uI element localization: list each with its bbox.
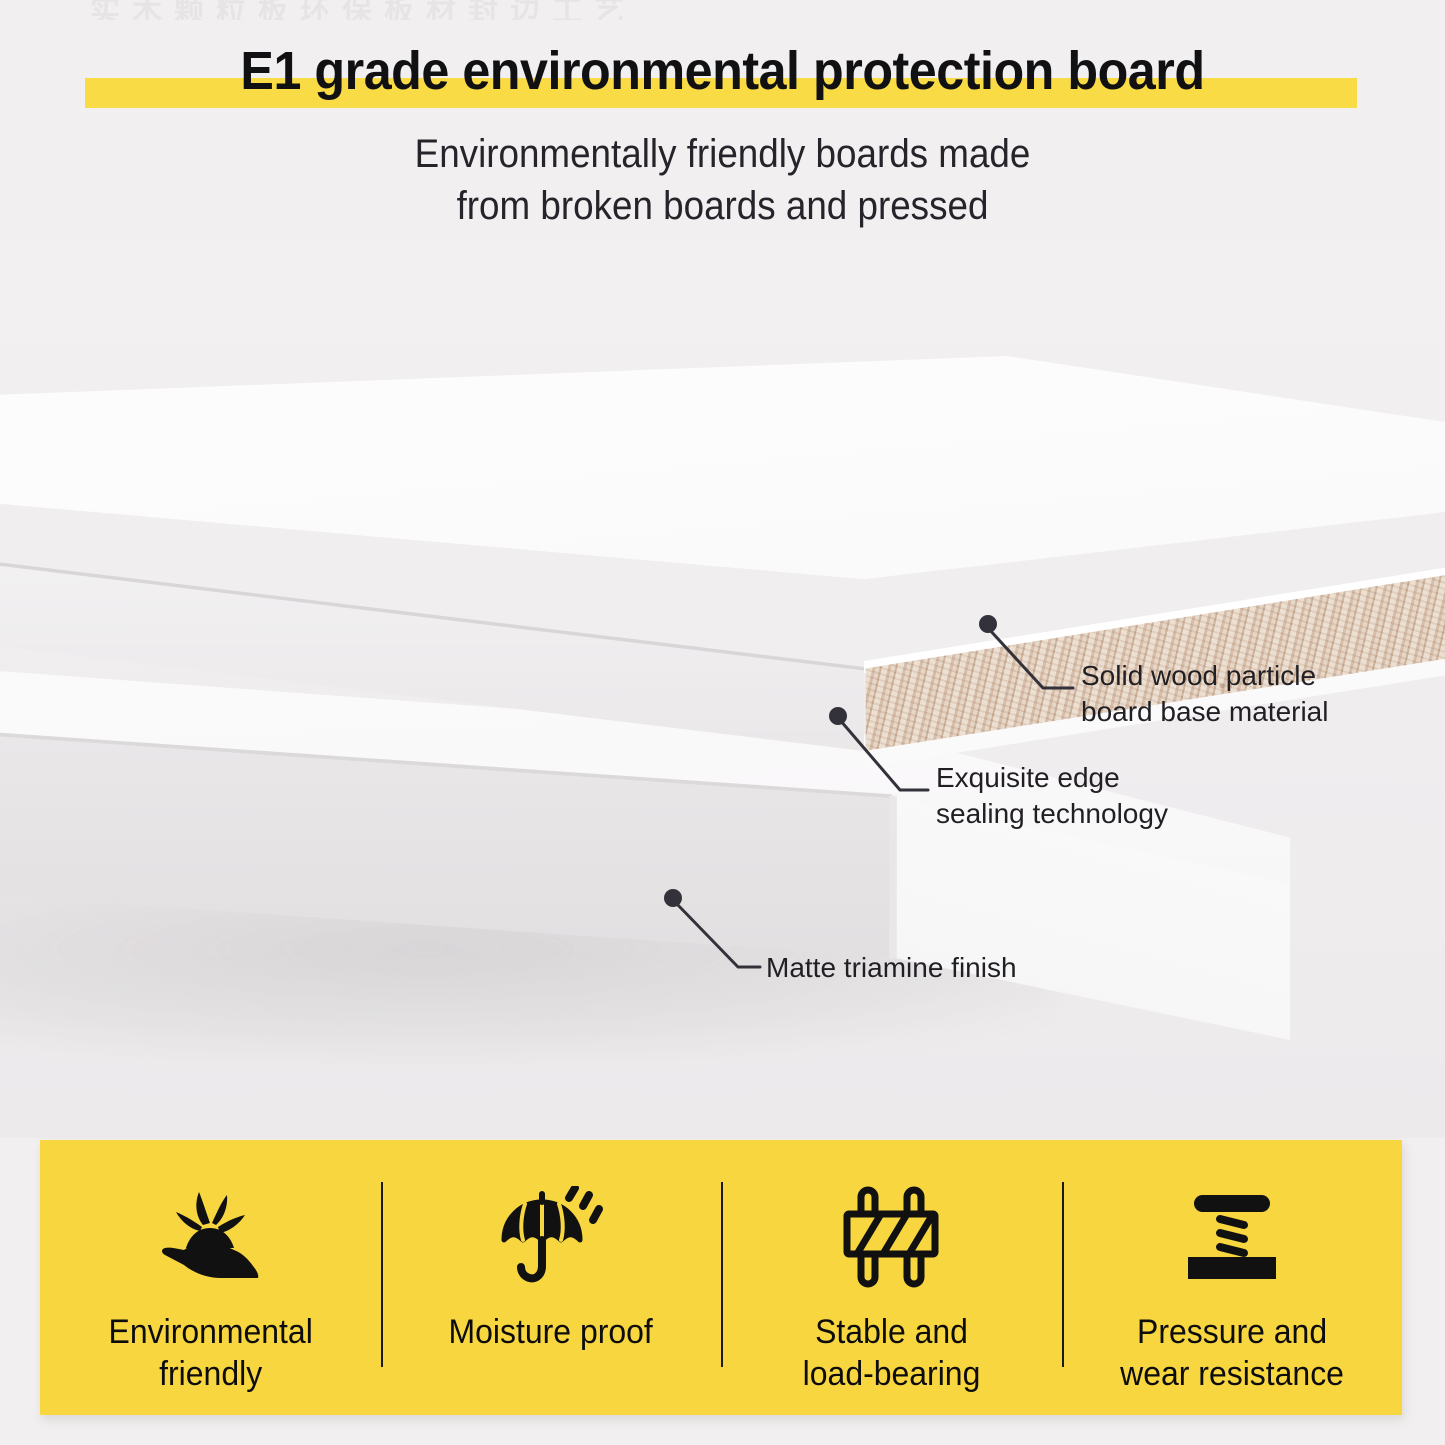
feature-2-line-1: Stable and — [802, 1311, 980, 1353]
header-title-block: E1 grade environmental protection board — [0, 38, 1445, 118]
callout-0-line-1: Solid wood particle — [1081, 658, 1328, 694]
infographic-root: 实木颗粒板环保板材封边工艺 E1 grade environmental pro… — [0, 0, 1445, 1445]
callout-1-line-1: Exquisite edge — [936, 760, 1168, 796]
callout-0-line-2: board base material — [1081, 694, 1328, 730]
feature-3-label: Pressure and wear resistance — [1120, 1311, 1344, 1395]
feature-0-line-2: friendly — [108, 1353, 312, 1395]
feature-2-line-2: load-bearing — [802, 1353, 980, 1395]
feature-1-line-1: Moisture proof — [449, 1311, 653, 1353]
feature-3-line-1: Pressure and — [1120, 1311, 1344, 1353]
feature-1-label: Moisture proof — [449, 1311, 653, 1353]
callout-2-line-1: Matte triamine finish — [766, 950, 1017, 986]
page-subtitle: Environmentally friendly boards made fro… — [58, 128, 1387, 232]
feature-0-label: Environmental friendly — [108, 1311, 312, 1395]
feature-3-line-2: wear resistance — [1120, 1353, 1344, 1395]
subtitle-line-2: from broken boards and pressed — [58, 180, 1387, 232]
feature-environmental-friendly: Environmental friendly — [40, 1140, 381, 1415]
callout-label-matte-finish: Matte triamine finish — [766, 950, 1017, 986]
feature-moisture-proof: Moisture proof — [381, 1140, 722, 1415]
callout-label-solid-wood: Solid wood particle board base material — [1081, 658, 1328, 730]
feature-stable-load-bearing: Stable and load-bearing — [721, 1140, 1062, 1415]
feature-pressure-wear-resistance: Pressure and wear resistance — [1062, 1140, 1403, 1415]
compression-spring-icon — [1182, 1184, 1282, 1289]
callout-label-edge-sealing: Exquisite edge sealing technology — [936, 760, 1168, 832]
callout-1-line-2: sealing technology — [936, 796, 1168, 832]
upper-board — [0, 356, 1445, 856]
ghost-watermark-text: 实木颗粒板环保板材封边工艺 — [90, 0, 1320, 20]
page-title: E1 grade environmental protection board — [51, 38, 1395, 104]
feature-bar: Environmental friendly — [40, 1140, 1402, 1415]
hand-plant-icon — [158, 1184, 262, 1289]
umbrella-rain-icon — [495, 1184, 607, 1289]
subtitle-line-1: Environmentally friendly boards made — [58, 128, 1387, 180]
feature-2-label: Stable and load-bearing — [802, 1311, 980, 1395]
barrier-icon — [843, 1184, 939, 1289]
feature-0-line-1: Environmental — [108, 1311, 312, 1353]
